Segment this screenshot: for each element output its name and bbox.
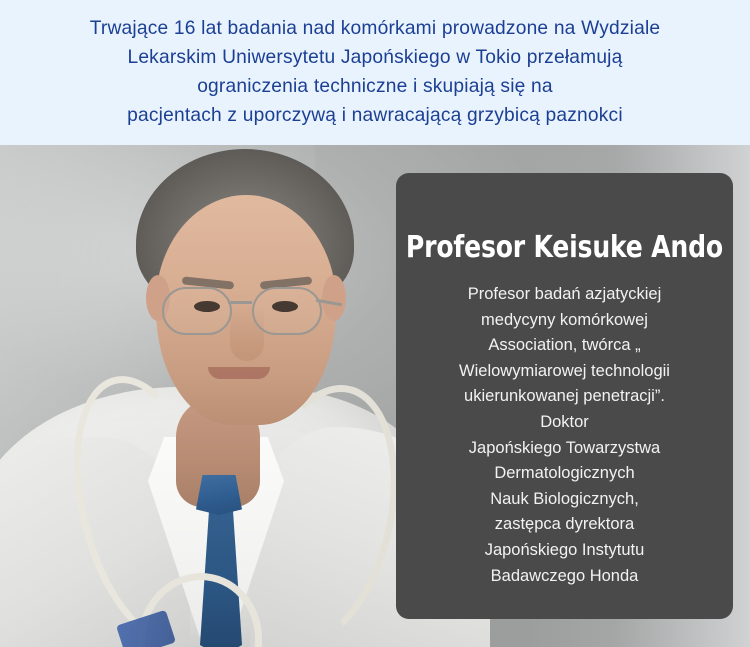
- eyeglasses-bridge: [228, 301, 252, 304]
- mouth: [208, 367, 270, 379]
- eyeglasses-left-lens: [162, 287, 232, 335]
- professor-name-title: Profesor Keisuke Ando: [406, 231, 723, 265]
- right-ear: [322, 275, 346, 321]
- professor-info-panel: Profesor Keisuke Ando Profesor badań azj…: [396, 173, 733, 619]
- header-headline-text: Trwające 16 lat badania nad komórkami pr…: [90, 14, 661, 130]
- doctor-head: [140, 155, 350, 420]
- advertisement-page: Trwające 16 lat badania nad komórkami pr…: [0, 0, 750, 647]
- eyeglasses-right-lens: [252, 287, 322, 335]
- header-banner: Trwające 16 lat badania nad komórkami pr…: [0, 0, 750, 145]
- professor-credentials-text: Profesor badań azjatyckiej medycyny komó…: [459, 282, 670, 589]
